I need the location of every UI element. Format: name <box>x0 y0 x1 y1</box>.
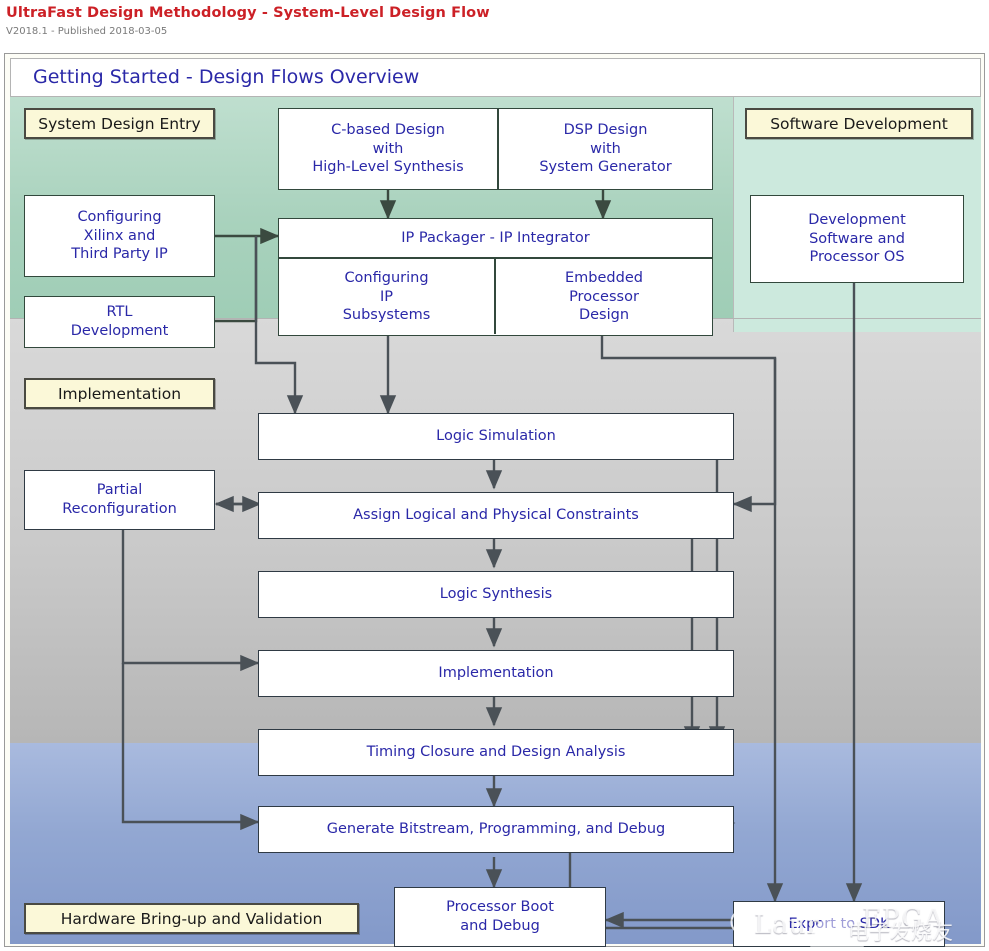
diagram-frame: Getting Started - Design Flows Overview <box>4 53 985 947</box>
node-generate-bitstream[interactable]: Generate Bitstream, Programming, and Deb… <box>258 806 734 853</box>
node-logic-simulation-label: Logic Simulation <box>432 427 560 446</box>
node-timing-closure[interactable]: Timing Closure and Design Analysis <box>258 729 734 776</box>
section-tag-system-design-entry: System Design Entry <box>24 108 215 139</box>
node-logic-synthesis[interactable]: Logic Synthesis <box>258 571 734 618</box>
node-dsp-design[interactable]: DSP DesignwithSystem Generator <box>498 108 713 190</box>
node-generate-bitstream-label: Generate Bitstream, Programming, and Deb… <box>323 820 670 839</box>
section-tag-implementation: Implementation <box>24 378 215 409</box>
node-ip-packager[interactable]: IP Packager - IP Integrator <box>279 219 712 257</box>
node-development-software-label: DevelopmentSoftware andProcessor OS <box>804 211 910 268</box>
node-ip-packager-label: IP Packager - IP Integrator <box>401 229 589 248</box>
node-dsp-design-label: DSP DesignwithSystem Generator <box>535 121 675 178</box>
banner: Getting Started - Design Flows Overview <box>10 58 981 97</box>
node-export-to-sdk[interactable]: Export to SDK <box>733 901 945 947</box>
node-ip-group: IP Packager - IP Integrator ConfiguringI… <box>278 218 713 336</box>
node-logic-synthesis-label: Logic Synthesis <box>436 585 556 604</box>
node-processor-boot-debug-label: Processor Bootand Debug <box>442 898 558 936</box>
section-tag-software-development: Software Development <box>745 108 973 139</box>
node-configuring-xilinx-ip[interactable]: ConfiguringXilinx andThird Party IP <box>24 195 215 277</box>
node-implementation-label: Implementation <box>434 664 557 683</box>
document-title: UltraFast Design Methodology - System-Le… <box>6 5 490 21</box>
diagram-inner: Getting Started - Design Flows Overview <box>10 58 981 944</box>
design-flow-diagram: UltraFast Design Methodology - System-Le… <box>0 0 989 951</box>
node-export-to-sdk-label: Export to SDK <box>784 915 893 934</box>
document-version: V2018.1 - Published 2018-03-05 <box>6 26 167 37</box>
node-logic-simulation[interactable]: Logic Simulation <box>258 413 734 460</box>
node-configuring-xilinx-ip-label: ConfiguringXilinx andThird Party IP <box>67 208 171 265</box>
node-assign-constraints-label: Assign Logical and Physical Constraints <box>349 506 643 525</box>
node-c-based-design-label: C-based DesignwithHigh-Level Synthesis <box>308 121 467 178</box>
node-configuring-ip-subsystems[interactable]: ConfiguringIPSubsystems <box>279 259 494 335</box>
node-partial-reconfiguration-label: PartialReconfiguration <box>58 481 181 519</box>
node-assign-constraints[interactable]: Assign Logical and Physical Constraints <box>258 492 734 539</box>
section-tag-hardware-bringup: Hardware Bring-up and Validation <box>24 903 359 934</box>
node-c-based-design[interactable]: C-based DesignwithHigh-Level Synthesis <box>278 108 498 190</box>
node-rtl-development-label: RTLDevelopment <box>67 303 173 341</box>
node-timing-closure-label: Timing Closure and Design Analysis <box>363 743 630 762</box>
node-configuring-ip-subsystems-label: ConfiguringIPSubsystems <box>343 269 431 326</box>
node-embedded-processor-design[interactable]: EmbeddedProcessorDesign <box>496 259 712 335</box>
node-implementation[interactable]: Implementation <box>258 650 734 697</box>
node-rtl-development[interactable]: RTLDevelopment <box>24 296 215 348</box>
banner-title: Getting Started - Design Flows Overview <box>33 66 419 88</box>
node-embedded-processor-design-label: EmbeddedProcessorDesign <box>565 269 643 326</box>
node-processor-boot-debug[interactable]: Processor Bootand Debug <box>394 887 606 947</box>
node-development-software[interactable]: DevelopmentSoftware andProcessor OS <box>750 195 964 283</box>
node-partial-reconfiguration[interactable]: PartialReconfiguration <box>24 470 215 530</box>
